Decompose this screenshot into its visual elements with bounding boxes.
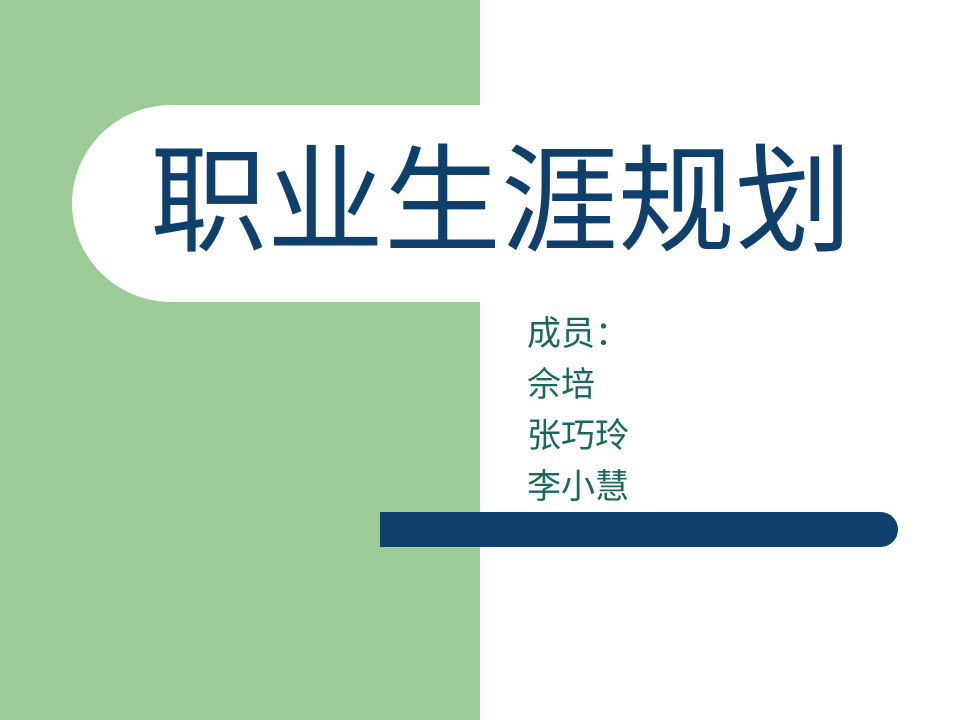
presentation-slide: 职业生涯规划 成员： 佘培 张巧玲 李小慧 [0, 0, 960, 720]
member-name-2: 张巧玲 [527, 411, 907, 462]
members-heading: 成员： [527, 309, 907, 360]
page-title: 职业生涯规划 [150, 119, 910, 289]
member-name-3: 李小慧 [527, 462, 907, 513]
member-name-1: 佘培 [527, 360, 907, 411]
navy-accent-bar [380, 512, 898, 547]
members-list: 成员： 佘培 张巧玲 李小慧 [527, 309, 907, 513]
